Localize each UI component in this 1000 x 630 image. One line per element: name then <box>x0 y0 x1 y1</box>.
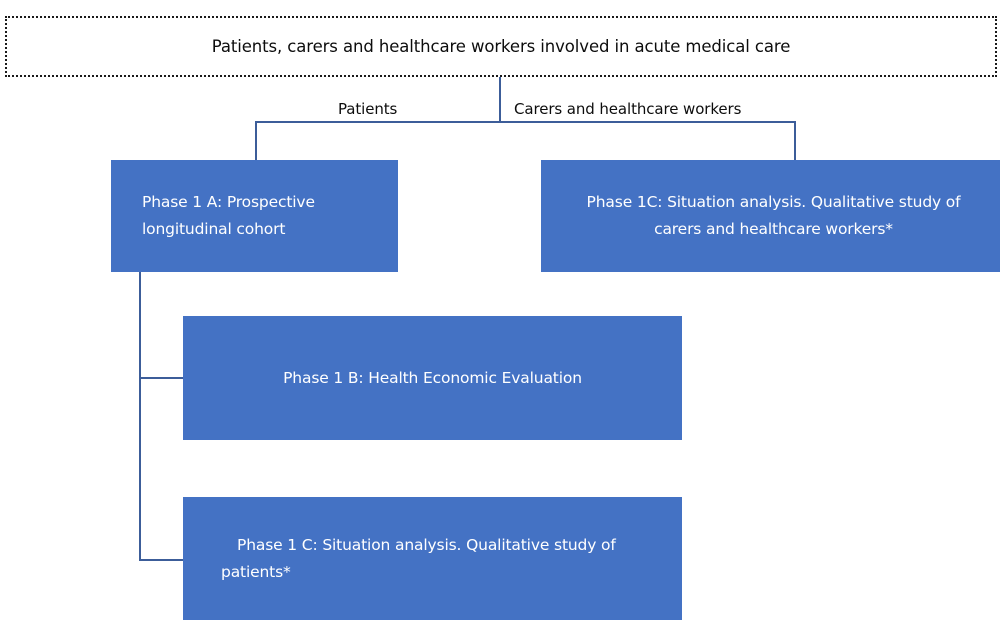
connector-spine-phase-1a <box>139 272 141 561</box>
edge-label-carers-healthcare-workers: Carers and healthcare workers <box>514 100 741 118</box>
node-phase-1b-label: Phase 1 B: Health Economic Evaluation <box>203 365 662 392</box>
node-phase-1a-label: Phase 1 A: Prospective longitudinal coho… <box>142 189 362 242</box>
connector-stub-to-phase-1b <box>139 377 184 379</box>
population-label: Patients, carers and healthcare workers … <box>212 37 791 56</box>
connector-drop-to-phase-1a <box>255 121 257 161</box>
node-phase-1c-patients-label: Phase 1 C: Situation analysis. Qualitati… <box>221 532 662 585</box>
flowchart-canvas: Patients, carers and healthcare workers … <box>0 0 1000 630</box>
edge-label-patients: Patients <box>338 100 397 118</box>
node-phase-1c-carers-label: Phase 1C: Situation analysis. Qualitativ… <box>565 189 982 242</box>
connector-drop-to-phase-1c-carers <box>794 121 796 161</box>
connector-stem-main <box>499 77 501 123</box>
connector-split-bar <box>255 121 796 123</box>
population-node: Patients, carers and healthcare workers … <box>5 16 997 77</box>
node-phase-1a[interactable]: Phase 1 A: Prospective longitudinal coho… <box>111 160 398 272</box>
connector-stub-to-phase-1c-patients <box>139 559 184 561</box>
node-phase-1b[interactable]: Phase 1 B: Health Economic Evaluation <box>183 316 682 440</box>
node-phase-1c-patients[interactable]: Phase 1 C: Situation analysis. Qualitati… <box>183 497 682 620</box>
node-phase-1c-carers[interactable]: Phase 1C: Situation analysis. Qualitativ… <box>541 160 1000 272</box>
